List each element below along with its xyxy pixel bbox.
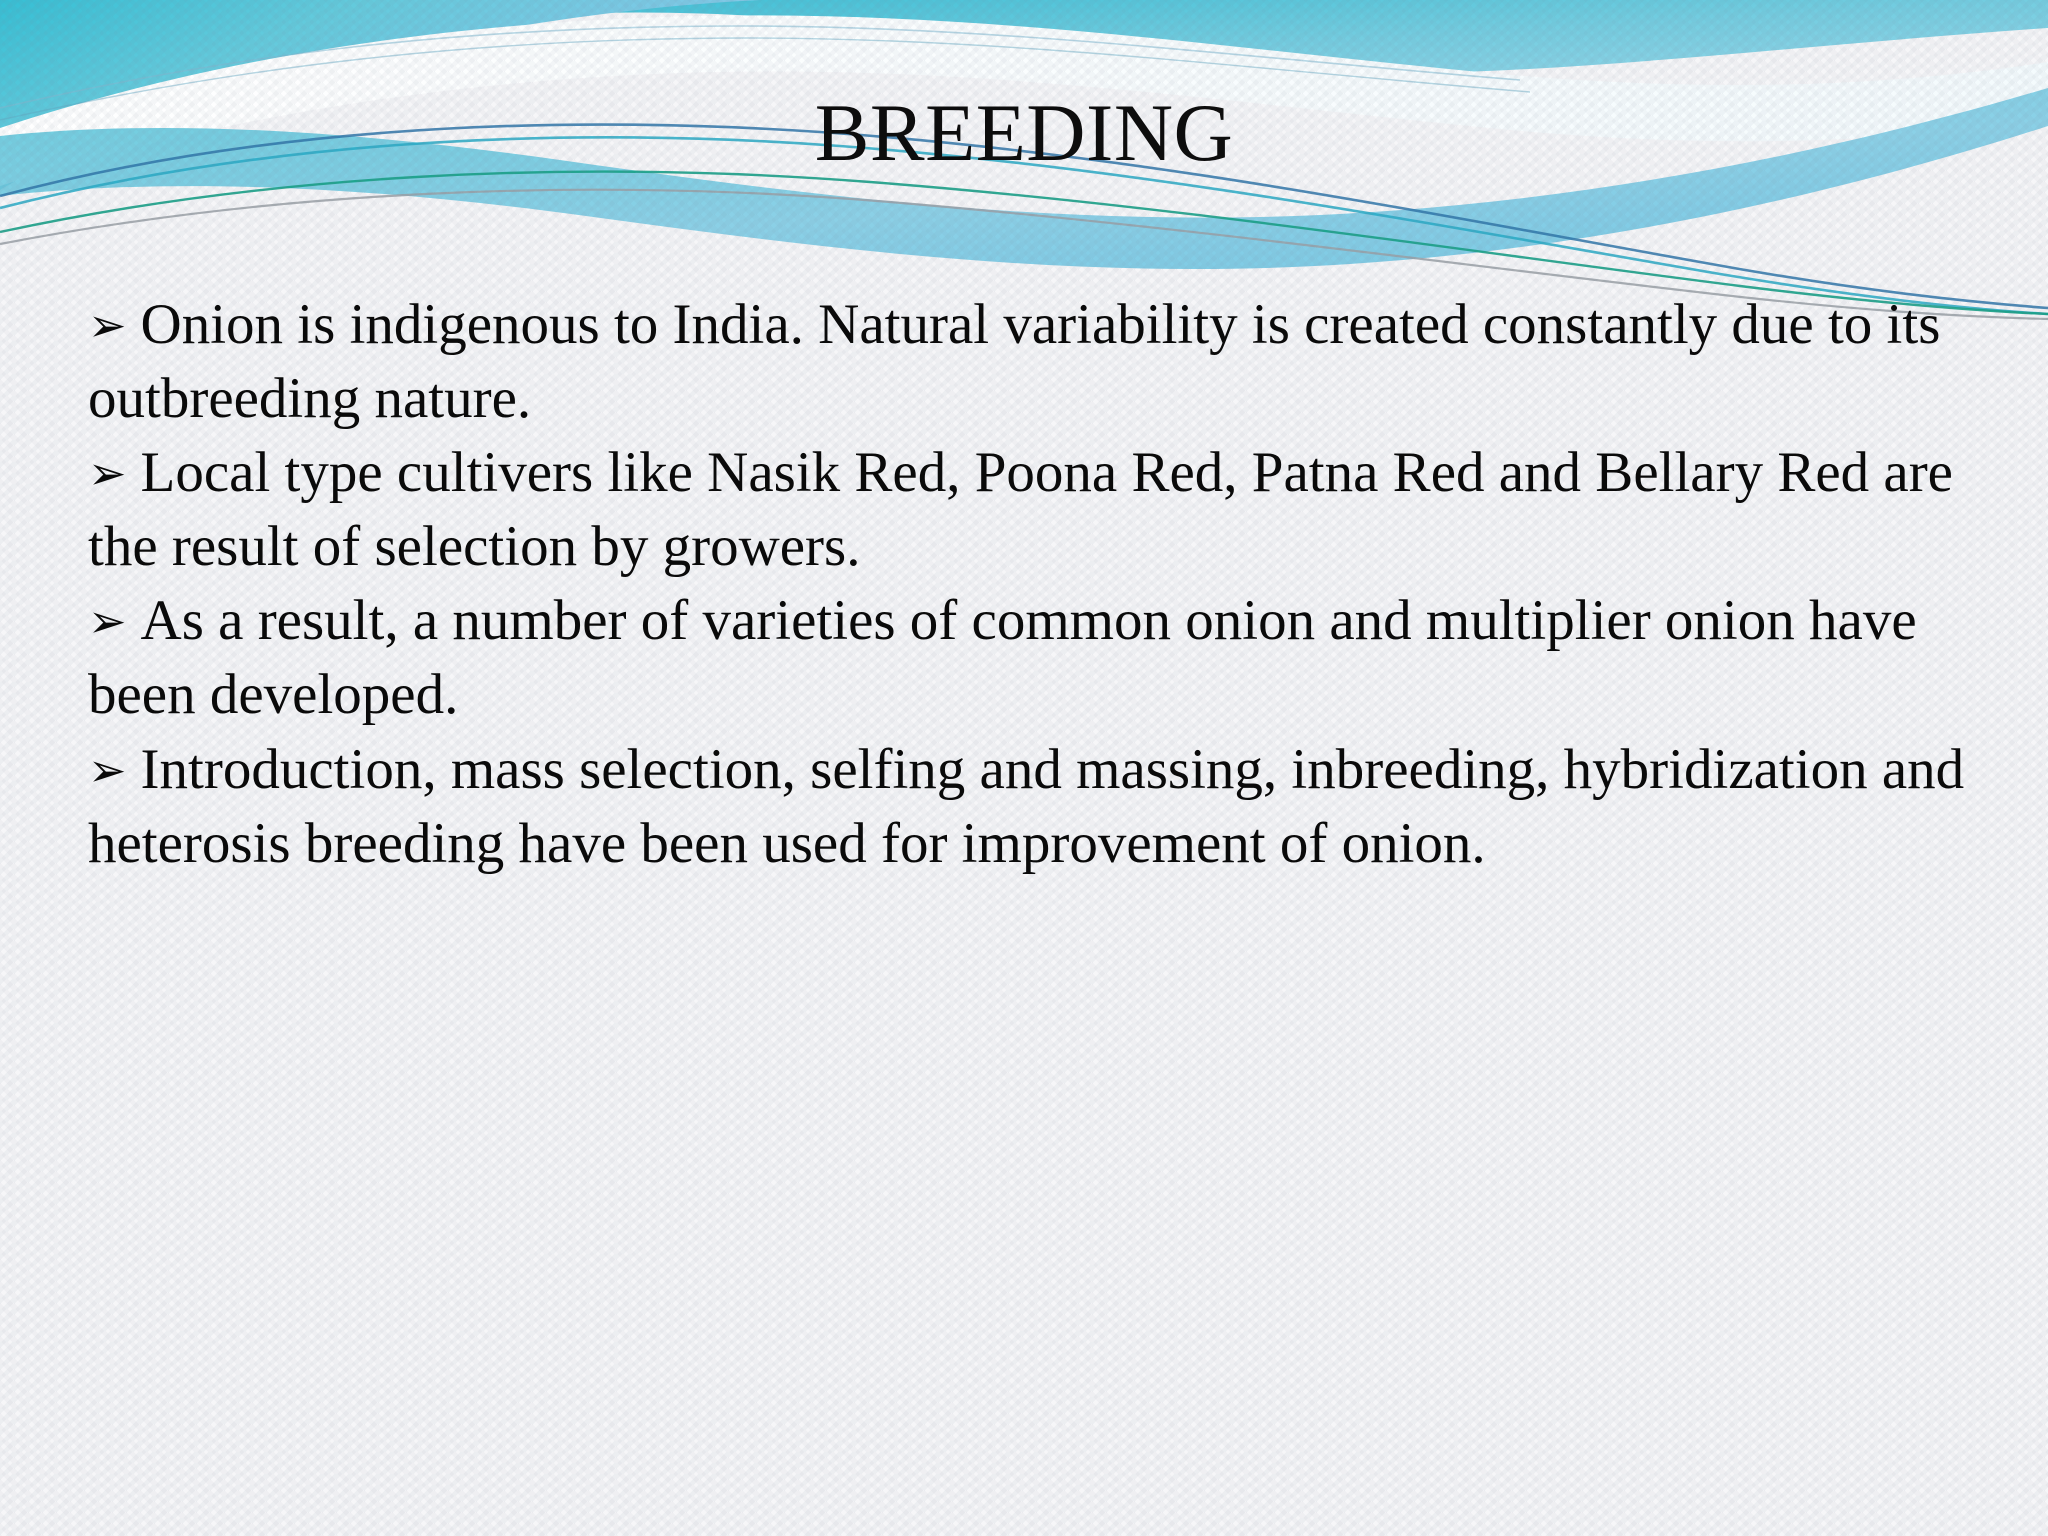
bullet-paragraph-2: ➢Local type cultivers like Nasik Red, Po…	[88, 436, 1976, 584]
bullet-paragraph-3: ➢As a result, a number of varieties of c…	[88, 584, 1976, 732]
bullet-text-3: As a result, a number of varieties of co…	[88, 589, 1917, 726]
page-title: BREEDING	[815, 92, 1234, 174]
presentation-slide: BREEDING ➢Onion is indigenous to India. …	[0, 0, 2048, 1536]
bullet-text-2: Local type cultivers like Nasik Red, Poo…	[88, 441, 1953, 578]
bullet-paragraph-4: ➢Introduction, mass selection, selfing a…	[88, 733, 1976, 881]
slide-title-container: BREEDING	[0, 92, 2048, 174]
bullet-text-4: Introduction, mass selection, selfing an…	[88, 738, 1964, 875]
arrow-bullet-icon: ➢	[88, 743, 141, 797]
arrow-bullet-icon: ➢	[88, 594, 141, 648]
slide-body-content: ➢Onion is indigenous to India. Natural v…	[88, 288, 1976, 881]
arrow-bullet-icon: ➢	[88, 446, 141, 500]
bullet-text-1: Onion is indigenous to India. Natural va…	[88, 293, 1940, 430]
bullet-paragraph-1: ➢Onion is indigenous to India. Natural v…	[88, 288, 1976, 436]
arrow-bullet-icon: ➢	[88, 298, 141, 352]
